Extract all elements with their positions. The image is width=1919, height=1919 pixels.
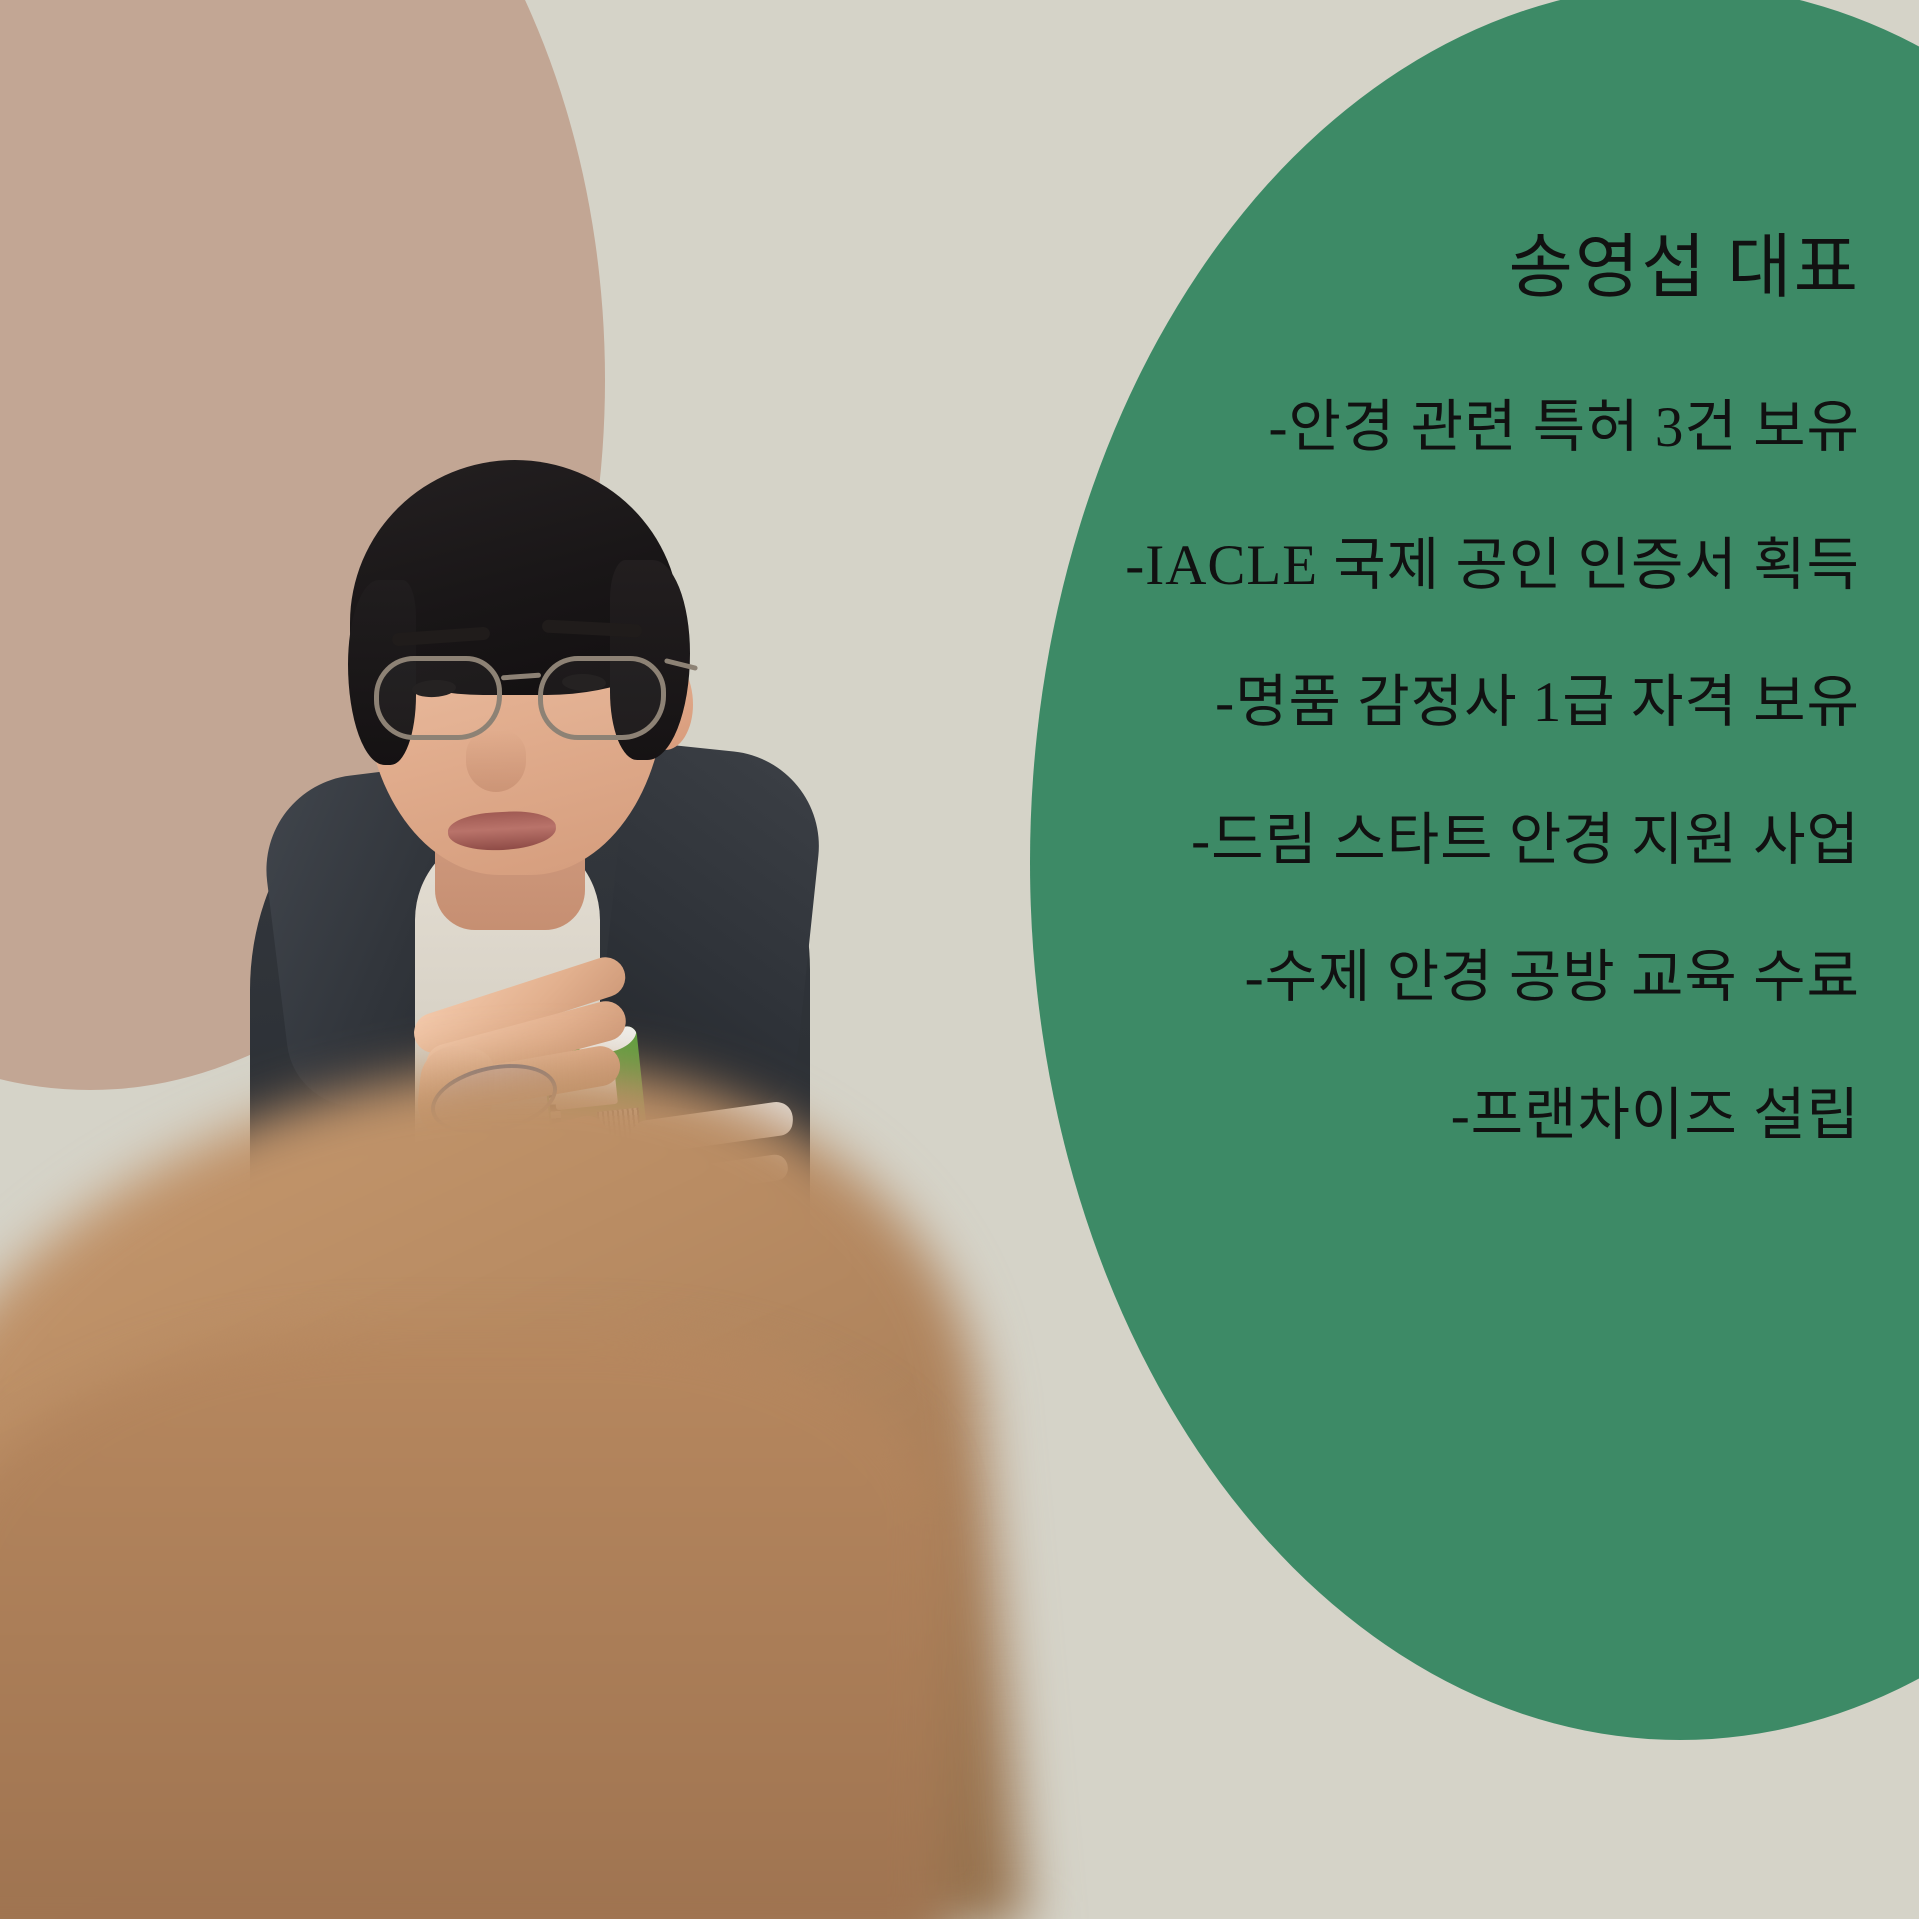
nose xyxy=(466,730,526,792)
profile-text-panel: 송영섭 대표 -안경 관련 특허 3건 보유 -IACLE 국제 공인 인증서 … xyxy=(860,230,1860,1148)
foreground-blurred-arm-2 xyxy=(0,1330,940,1919)
eyeglasses-icon xyxy=(368,648,688,748)
credential-item-6: -프랜차이즈 설립 xyxy=(860,1083,1860,1149)
credential-item-2: -IACLE 국제 공인 인증서 획득 xyxy=(860,533,1860,599)
credentials-list: -안경 관련 특허 3건 보유 -IACLE 국제 공인 인증서 획득 -명품 … xyxy=(860,395,1860,1148)
credential-item-5: -수제 안경 공방 교육 수료 xyxy=(860,945,1860,1011)
glasses-lens-left xyxy=(374,656,502,740)
page-title: 송영섭 대표 xyxy=(860,230,1860,307)
poster-canvas: 송영섭 대표 -안경 관련 특허 3건 보유 -IACLE 국제 공인 인증서 … xyxy=(0,0,1919,1919)
glasses-temple xyxy=(664,658,698,671)
credential-item-4: -드림 스타트 안경 지원 사업 xyxy=(860,808,1860,874)
credential-item-1: -안경 관련 특허 3건 보유 xyxy=(860,395,1860,461)
glasses-lens-right xyxy=(538,656,666,740)
credential-item-3: -명품 감정사 1급 자격 보유 xyxy=(860,670,1860,736)
glasses-bridge xyxy=(501,673,541,681)
